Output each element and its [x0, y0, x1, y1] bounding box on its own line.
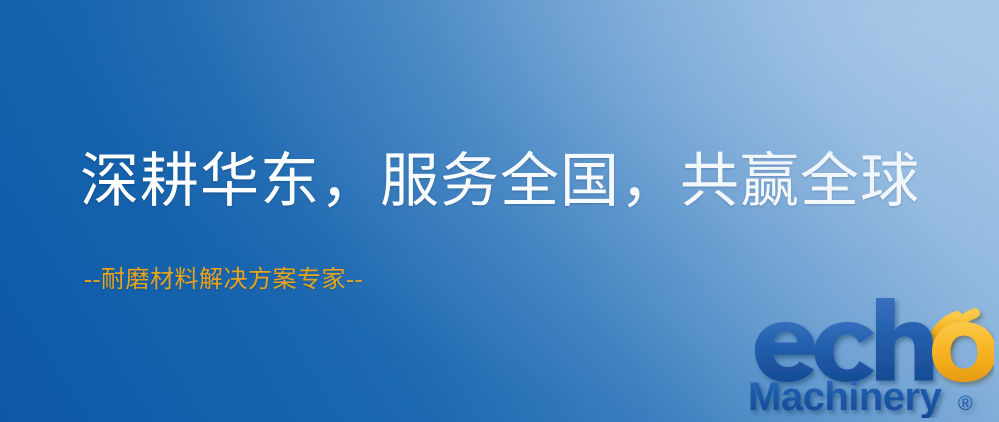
logo-letter-e — [755, 322, 815, 382]
banner-headline: 深耕华东，服务全国，共赢全球 — [80, 152, 920, 211]
echo-machinery-logo[interactable]: Machinery ® — [742, 296, 994, 418]
logo-artwork: Machinery ® — [742, 296, 994, 418]
banner-subtitle: --耐磨材料解决方案专家-- — [84, 268, 363, 292]
promo-banner: 深耕华东，服务全国，共赢全球 --耐磨材料解决方案专家-- — [0, 0, 999, 422]
logo-letter-c — [815, 322, 875, 382]
logo-letter-h — [876, 298, 933, 381]
logo-letter-o — [932, 322, 994, 382]
logo-tagline: Machinery — [748, 375, 943, 418]
registered-trademark-icon: ® — [958, 393, 973, 415]
